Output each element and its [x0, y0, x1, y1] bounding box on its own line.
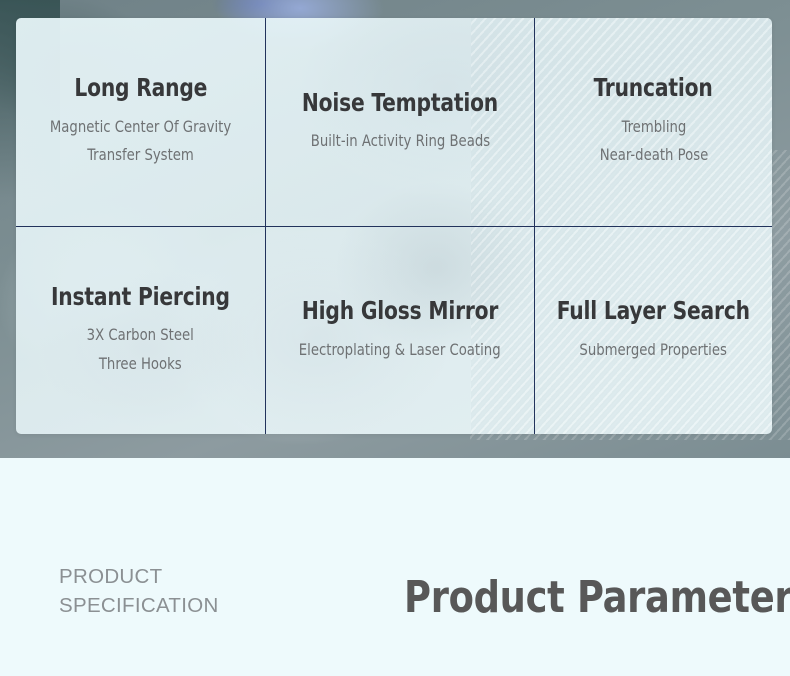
feature-cell-truncation[interactable]: Truncation Trembling Near-death Pose: [534, 18, 772, 226]
feature-grid: Long Range Magnetic Center Of Gravity Tr…: [16, 18, 772, 434]
feature-subtitle: Built-in Activity Ring Beads: [310, 127, 489, 155]
page-root: Long Range Magnetic Center Of Gravity Tr…: [0, 0, 790, 676]
feature-subtitle: Trembling Near-death Pose: [599, 113, 708, 170]
feature-cell-noise-temptation[interactable]: Noise Temptation Built-in Activity Ring …: [265, 18, 534, 226]
spec-section-title: Product Parameters: [404, 572, 790, 623]
feature-title: Full Layer Search: [557, 297, 750, 325]
feature-title: Instant Piercing: [51, 283, 230, 311]
spec-eyebrow-label: PRODUCT SPECIFICATION: [59, 562, 219, 620]
feature-title: Long Range: [74, 74, 207, 102]
feature-subtitle: 3X Carbon Steel Three Hooks: [87, 321, 194, 378]
feature-card: Long Range Magnetic Center Of Gravity Tr…: [16, 18, 772, 434]
feature-title: Truncation: [594, 74, 713, 102]
feature-title: High Gloss Mirror: [302, 297, 498, 325]
feature-subtitle: Electroplating & Laser Coating: [299, 336, 501, 364]
feature-cell-full-layer-search[interactable]: Full Layer Search Submerged Properties: [534, 226, 772, 434]
feature-subtitle: Magnetic Center Of Gravity Transfer Syst…: [50, 113, 231, 170]
feature-cell-high-gloss-mirror[interactable]: High Gloss Mirror Electroplating & Laser…: [265, 226, 534, 434]
feature-cell-instant-piercing[interactable]: Instant Piercing 3X Carbon Steel Three H…: [16, 226, 265, 434]
feature-subtitle: Submerged Properties: [580, 336, 727, 364]
feature-title: Noise Temptation: [302, 89, 498, 117]
feature-cell-long-range[interactable]: Long Range Magnetic Center Of Gravity Tr…: [16, 18, 265, 226]
